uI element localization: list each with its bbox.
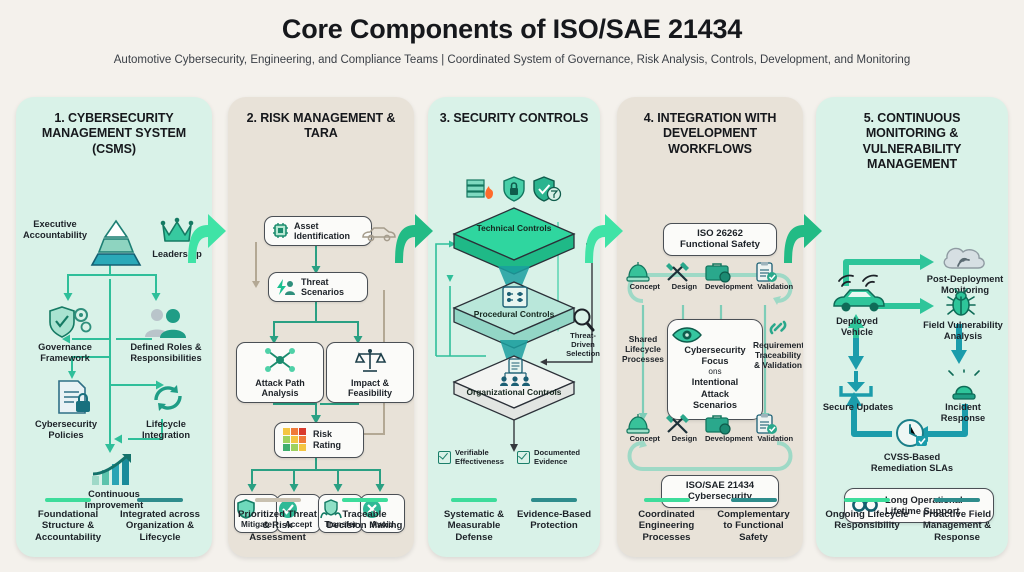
label-requirements-traceability: Requirements Traceability & Validation	[753, 341, 803, 371]
footer-item: Proactive Field Management & Response	[914, 498, 1000, 543]
label-organizational-controls: Organizational Controls	[460, 388, 568, 398]
center-box-l2: Focus	[672, 356, 758, 367]
footer-item: Systematic & Measurable Defense	[436, 498, 512, 543]
pyramid-icon	[88, 219, 144, 267]
footer-item: Integrated across Organization & Lifecyc…	[116, 498, 204, 543]
center-box-l5: Attack	[672, 389, 758, 400]
briefcase-icon	[704, 413, 732, 435]
briefcase-icon	[704, 261, 732, 283]
stage-label: Development	[704, 435, 753, 444]
stage-label: Concept	[625, 435, 665, 444]
bug-icon	[946, 288, 976, 318]
panel-csms[interactable]: 1. CYBERSECURITY MANAGEMENT SYSTEM (CSMS…	[16, 97, 212, 557]
label-field-vulnerability-analysis: Field Vulnerability Analysis	[920, 320, 1006, 342]
label-procedural-controls: Procedural Controls	[468, 310, 560, 320]
check-label: Documented Evidence	[534, 449, 590, 467]
arrow-1-to-2	[186, 209, 228, 265]
node-label: Attack Path Analysis	[244, 378, 316, 399]
threat-bolt-icon	[276, 278, 296, 296]
document-lock-icon	[54, 379, 94, 417]
network-nodes-icon	[263, 347, 297, 373]
stage-design-2[interactable]: Design	[665, 413, 705, 444]
lock-shield-icon	[502, 176, 526, 202]
panel-title-csms: 1. CYBERSECURITY MANAGEMENT SYSTEM (CSMS…	[16, 97, 212, 157]
center-box-cybersecurity-focus[interactable]: Cybersecurity Focus ons Intentional Atta…	[667, 319, 763, 420]
panel-title-risk: 2. RISK MANAGEMENT & TARA	[228, 97, 414, 142]
panel-title-controls: 3. SECURITY CONTROLS	[428, 97, 600, 126]
node-impact-feasibility[interactable]: Impact & Feasibility	[326, 342, 414, 404]
node-threat-scenarios[interactable]: Threat Scenarios	[268, 272, 368, 303]
arrow-3-to-4	[583, 209, 625, 265]
footer-rule	[644, 498, 690, 502]
controls-checks: Verifiable Effectiveness Documented Evid…	[438, 449, 590, 467]
footer-item: Traceable Decision Making	[323, 498, 406, 543]
check-verifiable-effectiveness[interactable]: Verifiable Effectiveness	[438, 449, 515, 467]
infographic-board: 1. CYBERSECURITY MANAGEMENT SYSTEM (CSMS…	[0, 97, 1024, 567]
chip-icon	[272, 222, 289, 239]
label-lifecycle-integration: Lifecycle Integration	[126, 419, 206, 441]
page-header: Core Components of ISO/SAE 21434 Automot…	[0, 0, 1024, 66]
stage-label: Validation	[754, 283, 798, 292]
stage-concept-2[interactable]: Concept	[625, 413, 665, 444]
node-label: Impact & Feasibility	[334, 378, 406, 399]
stage-row-bottom: Concept Design Development Validation	[625, 413, 797, 444]
label-defined-roles: Defined Roles & Responsibilities	[120, 342, 212, 364]
label-cvss-remediation-slas: CVSS-Based Remediation SLAs	[856, 452, 968, 474]
magnifier-icon	[572, 308, 594, 332]
panel-continuous-monitoring[interactable]: 5. CONTINUOUS MONITORING & VULNERABILITY…	[816, 97, 1008, 557]
footer-text: Coordinated Engineering Processes	[625, 509, 708, 544]
stage-label: Development	[704, 283, 753, 292]
panel-title-integration: 4. INTEGRATION WITH DEVELOPMENT WORKFLOW…	[617, 97, 803, 157]
document-people-icon	[498, 358, 532, 386]
footer-risk: Prioritized Threat & Risk Assessment Tra…	[228, 498, 414, 543]
footer-text: Foundational Structure & Accountability	[24, 509, 112, 544]
stage-development-2[interactable]: Development	[704, 413, 753, 444]
clipboard-check-icon	[754, 261, 778, 283]
tools-icon	[665, 413, 691, 435]
label-executive-accountability: Executive Accountability	[20, 219, 90, 241]
footer-text: Traceable Decision Making	[323, 509, 406, 532]
center-box-l1: Cybersecurity	[672, 345, 758, 356]
tools-icon	[665, 261, 691, 283]
footer-text: Ongoing Lifecycle Responsibility	[824, 509, 910, 532]
cloud-monitor-icon	[940, 238, 988, 272]
footer-rule	[255, 498, 301, 502]
footer-rule	[137, 498, 183, 502]
footer-rule	[934, 498, 980, 502]
arrow-2-to-3	[393, 209, 435, 265]
clock-icon	[894, 416, 930, 450]
center-box-l4: Intentional	[672, 377, 758, 388]
stage-validation-2[interactable]: Validation	[754, 413, 798, 444]
footer-item: Foundational Structure & Accountability	[24, 498, 112, 543]
footer-item: Prioritized Threat & Risk Assessment	[236, 498, 319, 543]
panel-title-monitoring: 5. CONTINUOUS MONITORING & VULNERABILITY…	[816, 97, 1008, 172]
stage-concept[interactable]: Concept	[625, 261, 665, 292]
download-shield-icon	[838, 370, 874, 398]
label-shared-lifecycle-processes: Shared Lifecycle Processes	[621, 335, 665, 365]
footer-monitoring: Ongoing Lifecycle Responsibility Proacti…	[816, 498, 1008, 543]
footer-item: Evidence-Based Protection	[516, 498, 592, 543]
checkbox-icon	[517, 451, 530, 464]
node-label: Asset Identification	[294, 221, 364, 242]
arrow-4-to-5	[782, 209, 824, 265]
car-outline-icon	[361, 224, 397, 242]
shield-check-icon	[532, 176, 562, 202]
footer-controls: Systematic & Measurable Defense Evidence…	[428, 498, 600, 543]
panel-risk-management-tara[interactable]: 2. RISK MANAGEMENT & TARA	[228, 97, 414, 557]
helmet-icon	[625, 261, 651, 283]
technical-control-icons	[466, 176, 562, 202]
footer-text: Integrated across Organization & Lifecyc…	[116, 509, 204, 544]
label-cybersecurity-policies: Cybersecurity Policies	[22, 419, 110, 441]
node-risk-rating[interactable]: Risk Rating	[274, 422, 364, 458]
process-flow-icon	[502, 286, 528, 308]
node-label: Risk Rating	[313, 429, 356, 450]
stage-row-top: Concept Design Development Validation	[625, 261, 797, 292]
stage-development[interactable]: Development	[704, 261, 753, 292]
risk-matrix-icon	[282, 427, 308, 453]
footer-rule	[342, 498, 388, 502]
node-attack-path-analysis[interactable]: Attack Path Analysis	[236, 342, 324, 404]
label-incident-response: Incident Response	[926, 402, 1000, 424]
stage-label: Validation	[754, 435, 798, 444]
stage-validation[interactable]: Validation	[754, 261, 798, 292]
footer-text: Evidence-Based Protection	[516, 509, 592, 532]
footer-item: Ongoing Lifecycle Responsibility	[824, 498, 910, 543]
eye-icon	[672, 326, 758, 344]
stage-label: Design	[665, 283, 705, 292]
footer-rule	[844, 498, 890, 502]
label-deployed-vehicle: Deployed Vehicle	[820, 316, 894, 338]
siren-icon	[948, 370, 980, 400]
node-label: Threat Scenarios	[301, 277, 360, 298]
footer-text: Prioritized Threat & Risk Assessment	[236, 509, 319, 544]
chain-link-icon	[767, 317, 791, 339]
footer-item: Coordinated Engineering Processes	[625, 498, 708, 543]
label-technical-controls: Technical Controls	[468, 224, 560, 234]
check-documented-evidence[interactable]: Documented Evidence	[517, 449, 590, 467]
panel-security-controls[interactable]: 3. SECURITY CONTROLS	[428, 97, 600, 557]
stage-label: Concept	[625, 283, 665, 292]
panel-integration-development[interactable]: 4. INTEGRATION WITH DEVELOPMENT WORKFLOW…	[617, 97, 803, 557]
label-threat-driven-selection: Threat-Driven Selection	[562, 332, 600, 359]
shield-gear-icon	[48, 305, 94, 339]
page-subtitle: Automotive Cybersecurity, Engineering, a…	[0, 54, 1024, 66]
footer-text: Proactive Field Management & Response	[914, 509, 1000, 544]
people-icon	[142, 307, 190, 339]
footer-rule	[451, 498, 497, 502]
center-box-l6: Scenarios	[672, 400, 758, 411]
footer-integration: Coordinated Engineering Processes Comple…	[617, 498, 803, 543]
stage-label: Design	[665, 435, 705, 444]
footer-rule	[45, 498, 91, 502]
check-label: Verifiable Effectiveness	[455, 449, 515, 467]
firewall-flame-icon	[466, 177, 496, 201]
node-asset-identification[interactable]: Asset Identification	[264, 216, 372, 247]
clipboard-check-icon	[754, 413, 778, 435]
scales-icon	[355, 347, 385, 373]
helmet-icon	[625, 413, 651, 435]
footer-csms: Foundational Structure & Accountability …	[16, 498, 212, 543]
footer-rule	[731, 498, 777, 502]
footer-item: Complementary to Functional Safety	[712, 498, 795, 543]
refresh-cycle-icon	[150, 381, 186, 415]
stage-design[interactable]: Design	[665, 261, 705, 292]
label-governance-framework: Governance Framework	[22, 342, 108, 364]
footer-rule	[531, 498, 577, 502]
car-signal-icon	[830, 272, 888, 314]
footer-text: Systematic & Measurable Defense	[436, 509, 512, 544]
page-title: Core Components of ISO/SAE 21434	[0, 14, 1024, 45]
growth-chart-icon	[90, 452, 138, 486]
footer-text: Complementary to Functional Safety	[712, 509, 795, 544]
checkbox-icon	[438, 451, 451, 464]
center-box-l3: ons	[672, 367, 758, 377]
label-secure-updates: Secure Updates	[822, 402, 894, 413]
